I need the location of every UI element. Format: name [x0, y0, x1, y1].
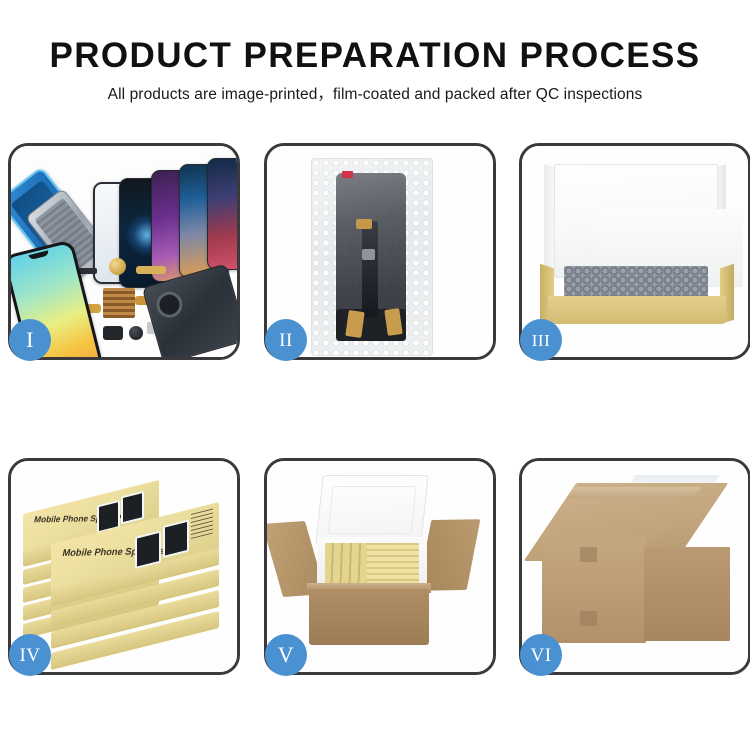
carton-tab-1-graphic: [580, 547, 597, 562]
step-panel-6: VI: [519, 458, 750, 675]
step-panel-3: III: [519, 143, 750, 360]
page-title: PRODUCT PREPARATION PROCESS: [0, 36, 750, 76]
foam-box-lid-graphic: [315, 475, 428, 545]
carton-front-graphic: [309, 589, 429, 645]
bubble-wrap-graphic: [311, 158, 433, 356]
foam-lid-graphic: [554, 164, 718, 278]
camera-module-graphic: [129, 326, 143, 340]
screen-flex-cable-graphic: [362, 221, 378, 317]
yellow-box-front-graphic: [548, 296, 726, 324]
step-badge-3: III: [520, 319, 562, 361]
step-panel-4: Mobile Phone Spare Parts Mobile Phone Sp…: [8, 458, 240, 675]
step-badge-5: V: [265, 634, 307, 676]
page-subtitle: All products are image-printed，film-coat…: [0, 85, 750, 105]
step-badge-2: II: [265, 319, 307, 361]
flex-cable-2-graphic: [136, 266, 166, 274]
speaker-coil-part-graphic: [109, 258, 126, 275]
loudspeaker-part-graphic: [103, 326, 123, 340]
carton-tape-graphic: [566, 487, 701, 498]
steps-grid: I II: [0, 143, 750, 683]
box-window-2: [121, 491, 144, 525]
carton-right-face-graphic: [644, 547, 730, 641]
screw-tray-graphic: [103, 288, 135, 318]
box-stack-graphic: Mobile Phone Spare Parts Mobile Phone Sp…: [17, 471, 237, 667]
step-panel-1: I: [8, 143, 240, 360]
step-panel-5: V: [264, 458, 496, 675]
red-gradient-phone-graphic: [207, 158, 237, 270]
gold-connector-1-graphic: [356, 219, 372, 229]
step-panel-2: II: [264, 143, 496, 360]
bubble-cushion-graphic: [564, 266, 708, 300]
header: PRODUCT PREPARATION PROCESS All products…: [0, 0, 750, 105]
product-preparation-infographic: PRODUCT PREPARATION PROCESS All products…: [0, 0, 750, 750]
step-badge-1: I: [9, 319, 51, 361]
red-sticker-graphic: [342, 171, 353, 178]
box-window-4: [163, 520, 189, 558]
driver-ic-graphic: [362, 249, 375, 260]
box-spec-lines-1: [191, 508, 213, 539]
carton-tab-2-graphic: [580, 611, 597, 626]
step-badge-6: VI: [520, 634, 562, 676]
packed-boxes-secondary-graphic: [367, 543, 419, 585]
carton-right-flap-graphic: [418, 519, 481, 591]
step-badge-4: IV: [9, 634, 51, 676]
